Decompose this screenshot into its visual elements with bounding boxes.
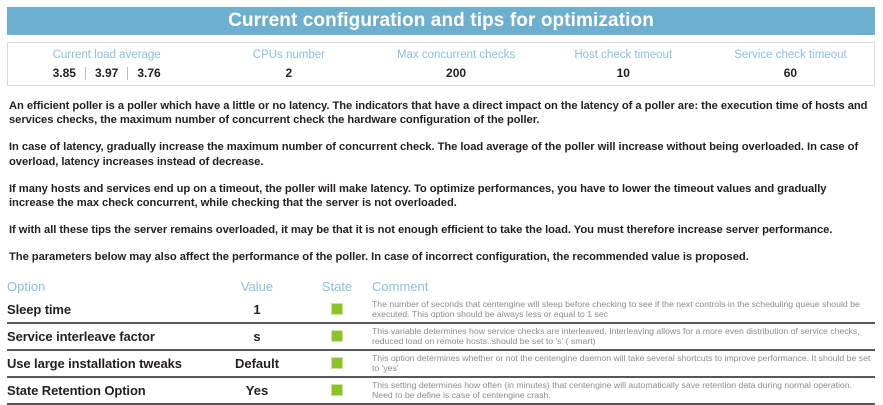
option-value: 1: [212, 297, 302, 323]
column-header-option: Option: [7, 279, 212, 297]
stat-label: Service check timeout: [734, 48, 847, 63]
option-name: State Retention Option: [7, 377, 212, 404]
green-square-icon: [331, 357, 343, 369]
option-state: [302, 350, 372, 377]
option-name: Sleep time: [7, 297, 212, 323]
current-configuration-stats-panel: Current load average 3.85 3.97 3.76 CPUs…: [7, 42, 875, 86]
option-name: Use large installation tweaks: [7, 350, 212, 377]
option-comment: The number of seconds that centengine wi…: [372, 297, 875, 323]
load-average-5min: 3.97: [86, 65, 127, 82]
stat-value: 60: [784, 65, 797, 82]
stat-value: 200: [446, 65, 466, 82]
tip-paragraph: In case of latency, gradually increase t…: [9, 140, 874, 168]
option-state: [302, 377, 372, 404]
tips-paragraphs: An efficient poller is a poller which ha…: [7, 99, 875, 265]
load-average-values: 3.85 3.97 3.76: [44, 65, 170, 82]
table-header-row: Option Value State Comment: [7, 279, 875, 297]
configuration-tips-page: Current configuration and tips for optim…: [0, 0, 883, 403]
column-header-value: Value: [212, 279, 302, 297]
stat-label: Current load average: [53, 48, 161, 63]
load-average-1min: 3.85: [44, 65, 85, 82]
stat-max-concurrent-checks: Max concurrent checks 200: [372, 43, 539, 85]
table-row: Use large installation tweaks Default Th…: [7, 350, 875, 377]
green-square-icon: [331, 330, 343, 342]
option-value: Yes: [212, 377, 302, 404]
option-value: Default: [212, 350, 302, 377]
option-name: Service interleave factor: [7, 323, 212, 350]
page-title: Current configuration and tips for optim…: [7, 7, 875, 35]
options-table: Option Value State Comment Sleep time 1 …: [7, 279, 875, 405]
option-comment: This variable determines how service che…: [372, 323, 875, 350]
option-comment: This setting determines how often (in mi…: [372, 377, 875, 404]
option-comment: This option determines whether or not th…: [372, 350, 875, 377]
tip-paragraph: If many hosts and services end up on a t…: [9, 182, 874, 210]
stat-label: Max concurrent checks: [397, 48, 515, 63]
stat-service-check-timeout: Service check timeout 60: [707, 43, 874, 85]
stat-label: Host check timeout: [574, 48, 672, 63]
stat-current-load-average: Current load average 3.85 3.97 3.76: [8, 43, 205, 85]
stat-value: 2: [286, 65, 293, 82]
stat-host-check-timeout: Host check timeout 10: [540, 43, 707, 85]
green-square-icon: [331, 303, 343, 315]
table-row: State Retention Option Yes This setting …: [7, 377, 875, 404]
option-state: [302, 323, 372, 350]
column-header-state: State: [302, 279, 372, 297]
stat-cpus-number: CPUs number 2: [205, 43, 372, 85]
load-average-15min: 3.76: [128, 65, 169, 82]
stat-value: 10: [617, 65, 630, 82]
option-state: [302, 297, 372, 323]
stat-label: CPUs number: [253, 48, 325, 63]
tip-paragraph: An efficient poller is a poller which ha…: [9, 99, 874, 127]
green-square-icon: [331, 384, 343, 396]
table-row: Sleep time 1 The number of seconds that …: [7, 297, 875, 323]
tip-paragraph: If with all these tips the server remain…: [9, 223, 874, 237]
table-row: Service interleave factor s This variabl…: [7, 323, 875, 350]
tip-paragraph: The parameters below may also affect the…: [9, 250, 874, 264]
column-header-comment: Comment: [372, 279, 875, 297]
option-value: s: [212, 323, 302, 350]
